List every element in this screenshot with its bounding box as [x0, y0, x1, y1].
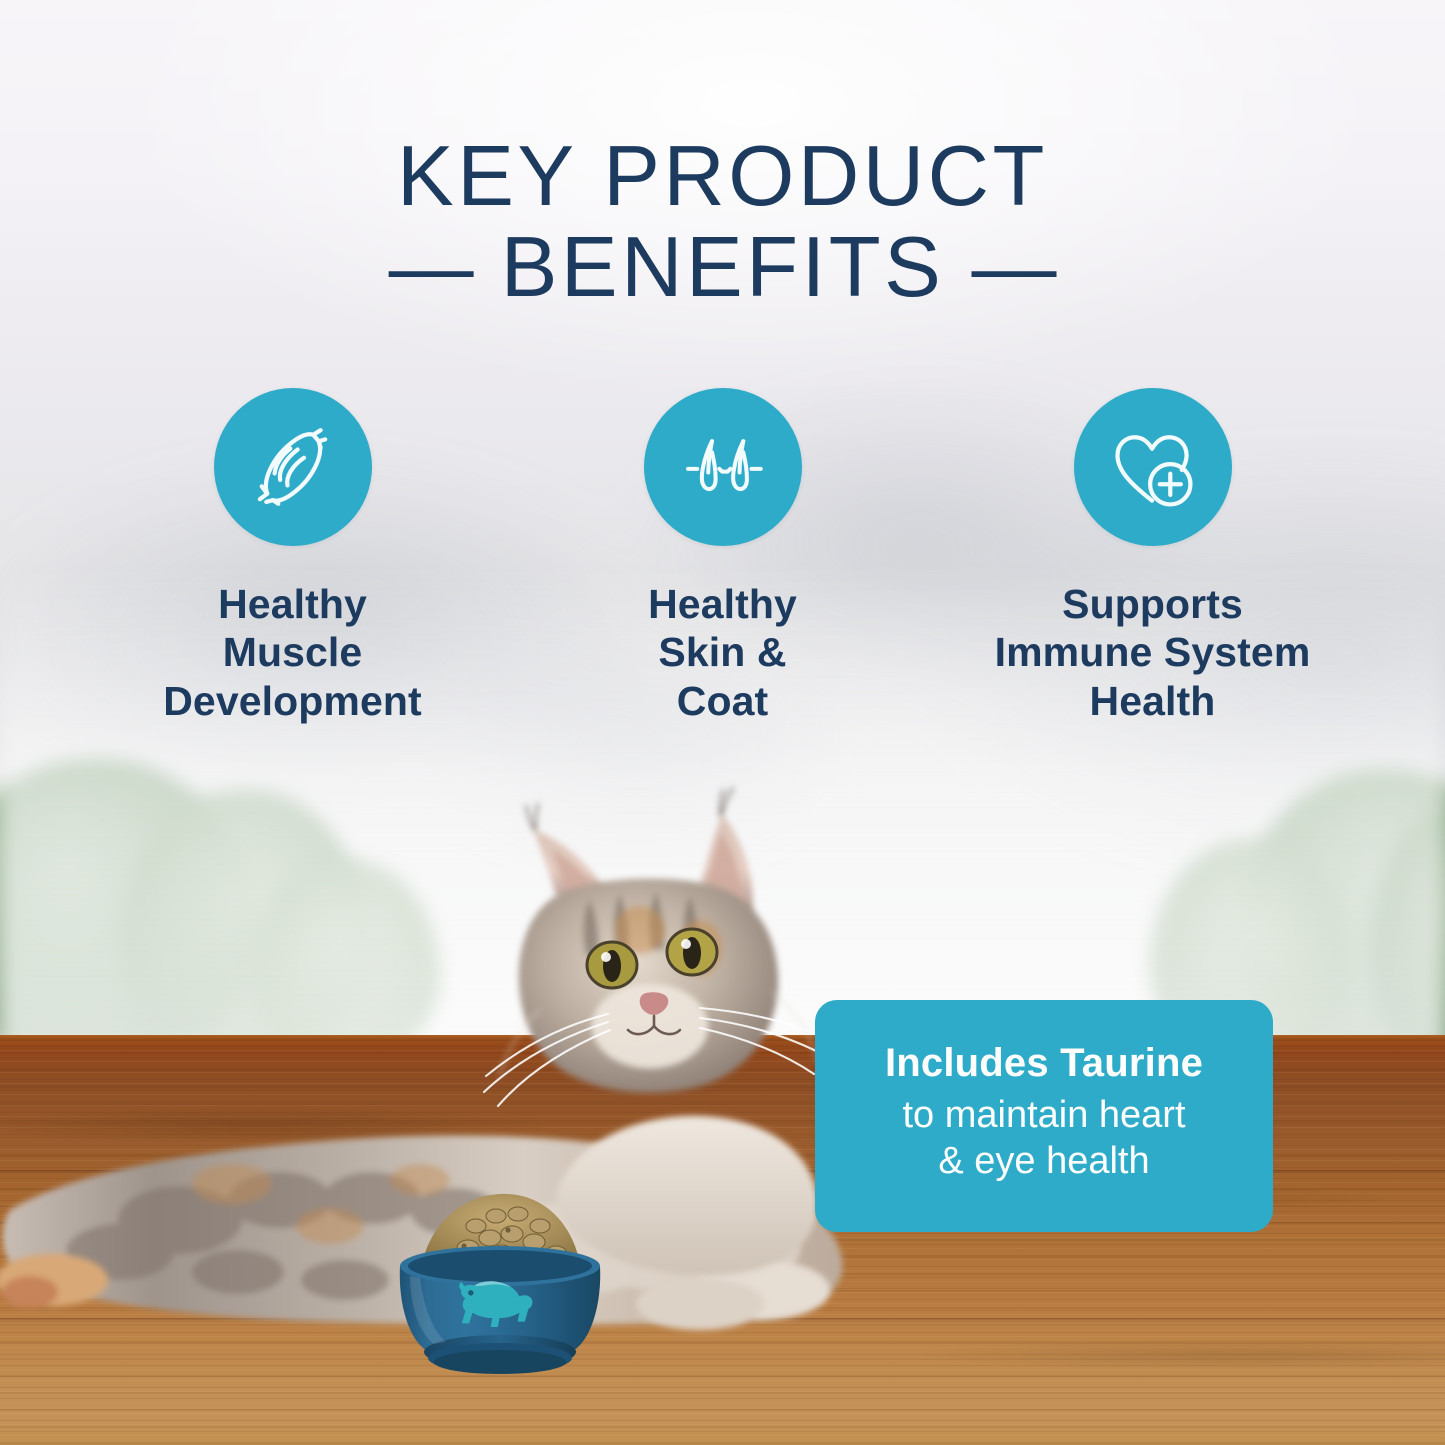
product-benefits-infographic: KEY PRODUCT — BENEFITS —: [0, 0, 1445, 1445]
benefit-icon-badge: [644, 388, 802, 546]
title-dash-left: —: [389, 220, 474, 315]
page-title: KEY PRODUCT — BENEFITS —: [0, 132, 1445, 314]
benefit-icon-badge: [214, 388, 372, 546]
page-title-line-2-text: BENEFITS: [501, 220, 945, 315]
food-bowl: [376, 1186, 624, 1386]
benefit-label: HealthyMuscleDevelopment: [163, 580, 422, 725]
benefit-item-muscle: HealthyMuscleDevelopment: [78, 388, 508, 725]
muscle-icon: [247, 421, 339, 513]
benefits-row: HealthyMuscleDevelopment HealthySkin &: [0, 388, 1445, 725]
benefit-label: SupportsImmune SystemHealth: [995, 580, 1311, 725]
benefit-item-immune: SupportsImmune SystemHealth: [938, 388, 1368, 725]
taurine-callout: Includes Taurine to maintain heart& eye …: [815, 1000, 1273, 1232]
hair-follicle-icon: [677, 421, 769, 513]
callout-subtitle: to maintain heart& eye health: [902, 1092, 1185, 1185]
benefit-item-skin-coat: HealthySkin &Coat: [508, 388, 938, 725]
benefit-icon-badge: [1074, 388, 1232, 546]
page-title-line-1: KEY PRODUCT: [397, 129, 1048, 224]
heart-plus-icon: [1105, 419, 1201, 515]
benefit-label: HealthySkin &Coat: [648, 580, 797, 725]
title-dash-right: —: [971, 220, 1056, 315]
callout-title: Includes Taurine: [885, 1041, 1203, 1086]
page-title-line-2: — BENEFITS —: [0, 223, 1445, 314]
